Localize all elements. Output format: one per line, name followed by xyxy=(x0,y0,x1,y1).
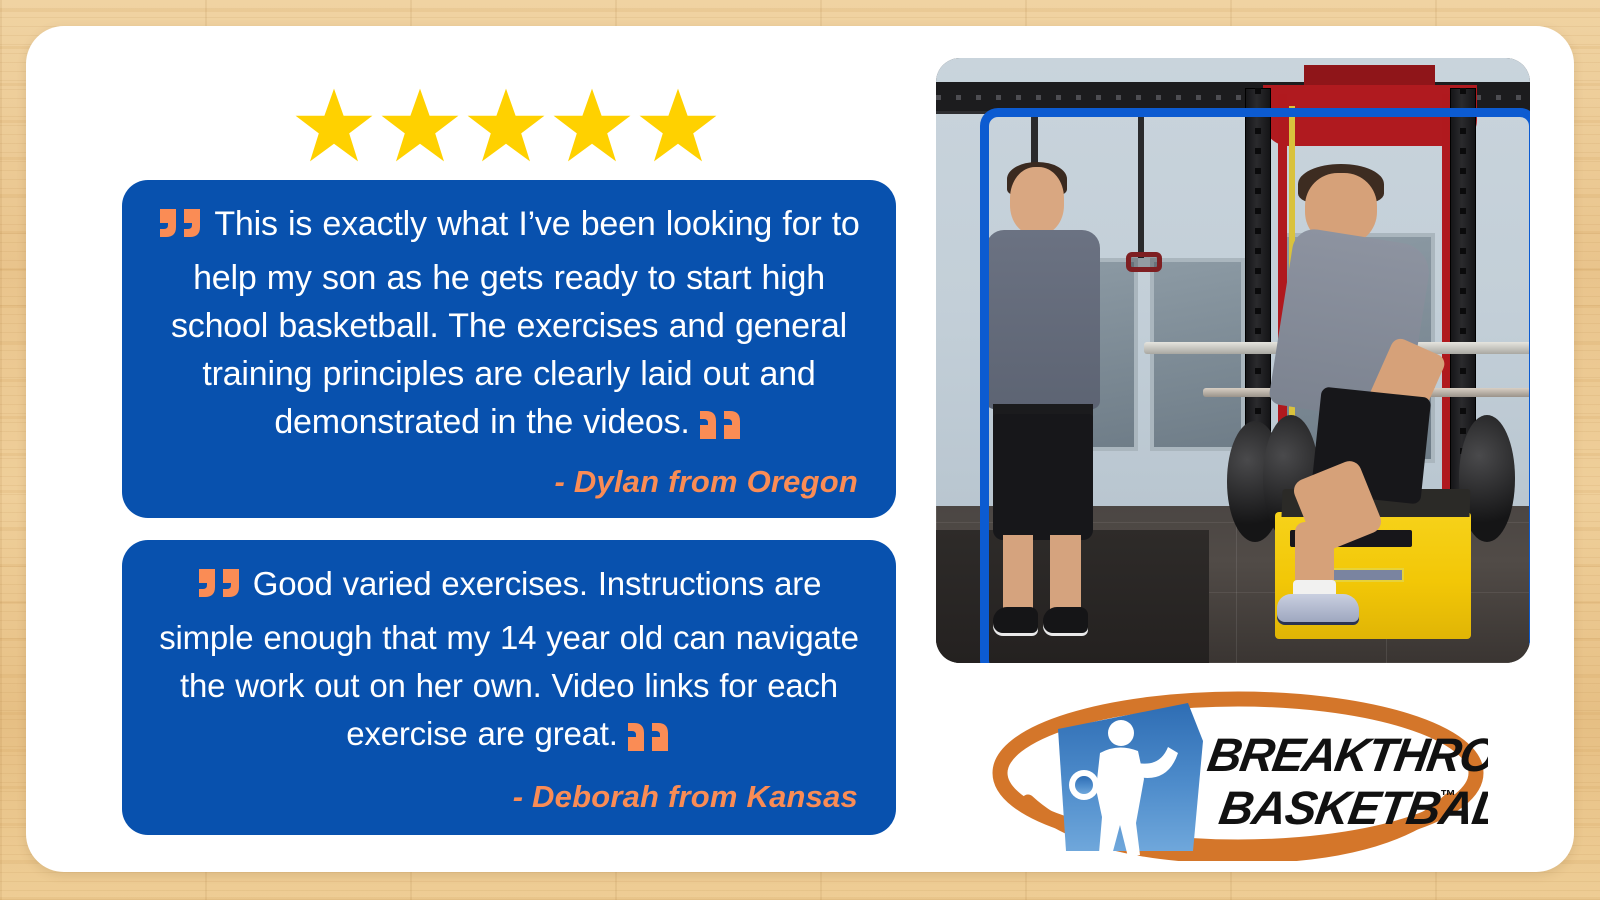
testimonial-body-1: This is exactly what I’ve been looking f… xyxy=(171,205,860,441)
star-icon xyxy=(294,86,374,164)
testimonial-attribution-1: - Dylan from Oregon xyxy=(148,464,870,504)
gym-window xyxy=(1150,258,1245,452)
testimonial-body-2: Good varied exercises. Instructions are … xyxy=(159,565,859,752)
testimonial-text-2: Good varied exercises. Instructions are … xyxy=(148,560,870,768)
star-rating xyxy=(96,56,916,162)
breakthrough-basketball-logo: BREAKTHROUGH BASKETBALL ™ xyxy=(988,681,1488,861)
coach-leg xyxy=(1003,535,1034,612)
coach-leg xyxy=(1050,535,1081,612)
coach-shoe xyxy=(993,607,1038,636)
quote-close-icon xyxy=(626,719,672,768)
quote-close-icon xyxy=(698,407,744,456)
testimonial-card-1: This is exactly what I’ve been looking f… xyxy=(122,180,896,518)
logo-trademark: ™ xyxy=(1440,788,1456,805)
quote-open-icon xyxy=(197,565,243,614)
testimonial-attribution-2: - Deborah from Kansas xyxy=(148,779,870,821)
star-icon xyxy=(380,86,460,164)
gym-training-photo xyxy=(936,58,1530,663)
logo-line1: BREAKTHROUGH xyxy=(1204,729,1488,782)
coach-shorts xyxy=(993,414,1093,540)
coach-figure xyxy=(984,167,1103,651)
testimonial-card-2: Good varied exercises. Instructions are … xyxy=(122,540,896,835)
star-icon xyxy=(466,86,546,164)
trx-strap xyxy=(1138,112,1145,257)
coach-head xyxy=(1010,167,1065,235)
testimonial-text-1: This is exactly what I’ve been looking f… xyxy=(148,200,870,456)
star-icon xyxy=(638,86,718,164)
testimonials-column: This is exactly what I’ve been looking f… xyxy=(96,56,916,846)
media-column: BREAKTHROUGH BASKETBALL ™ xyxy=(910,26,1574,872)
testimonial-card: This is exactly what I’ve been looking f… xyxy=(26,26,1574,872)
coach-polo-shirt xyxy=(986,230,1100,409)
athlete-shoe xyxy=(1277,594,1359,625)
photo-scene xyxy=(936,58,1530,663)
trx-handle xyxy=(1126,252,1162,273)
athlete-figure xyxy=(1263,173,1441,621)
star-icon xyxy=(552,86,632,164)
quote-open-icon xyxy=(158,205,204,254)
coach-shoe xyxy=(1043,607,1088,636)
logo-svg: BREAKTHROUGH BASKETBALL ™ xyxy=(988,681,1488,861)
